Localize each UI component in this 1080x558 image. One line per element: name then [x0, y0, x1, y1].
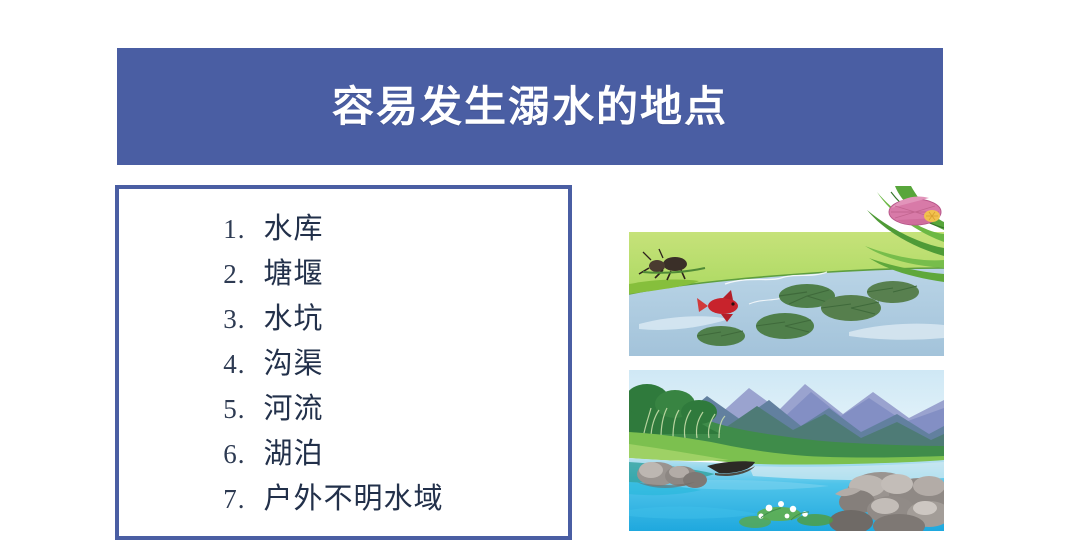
page-title: 容易发生溺水的地点 [332, 86, 728, 128]
list-item: 4. 沟渠 [194, 340, 494, 385]
list-item-number: 1. [194, 214, 246, 245]
list-item: 5. 河流 [194, 385, 494, 430]
list-item-number: 3. [194, 304, 246, 335]
list-item: 3. 水坑 [194, 295, 494, 340]
list-item-label: 户外不明水域 [264, 475, 444, 517]
pond-illustration [629, 186, 944, 356]
list-item: 7. 户外不明水域 [194, 475, 494, 520]
list-item-label: 湖泊 [264, 430, 324, 472]
list-item-number: 4. [194, 349, 246, 380]
list-item-number: 5. [194, 394, 246, 425]
list-item-number: 6. [194, 439, 246, 470]
list-item-label: 沟渠 [264, 340, 324, 382]
list-item-label: 水库 [264, 205, 324, 247]
list-item: 1. 水库 [194, 205, 494, 250]
list-item-label: 水坑 [264, 295, 324, 337]
list-item: 2. 塘堰 [194, 250, 494, 295]
drowning-locations-panel: 1. 水库 2. 塘堰 3. 水坑 4. 沟渠 5. 河流 6. 湖泊 7. 户… [115, 185, 572, 540]
title-banner: 容易发生溺水的地点 [117, 48, 943, 165]
list-item-label: 河流 [264, 385, 324, 427]
list-item-number: 7. [194, 484, 246, 515]
list-item-label: 塘堰 [264, 250, 324, 292]
list-item-number: 2. [194, 259, 246, 290]
lotus-flower [889, 196, 941, 225]
locations-list: 1. 水库 2. 塘堰 3. 水坑 4. 沟渠 5. 河流 6. 湖泊 7. 户… [119, 189, 568, 536]
list-item: 6. 湖泊 [194, 430, 494, 475]
river-illustration [629, 370, 944, 531]
